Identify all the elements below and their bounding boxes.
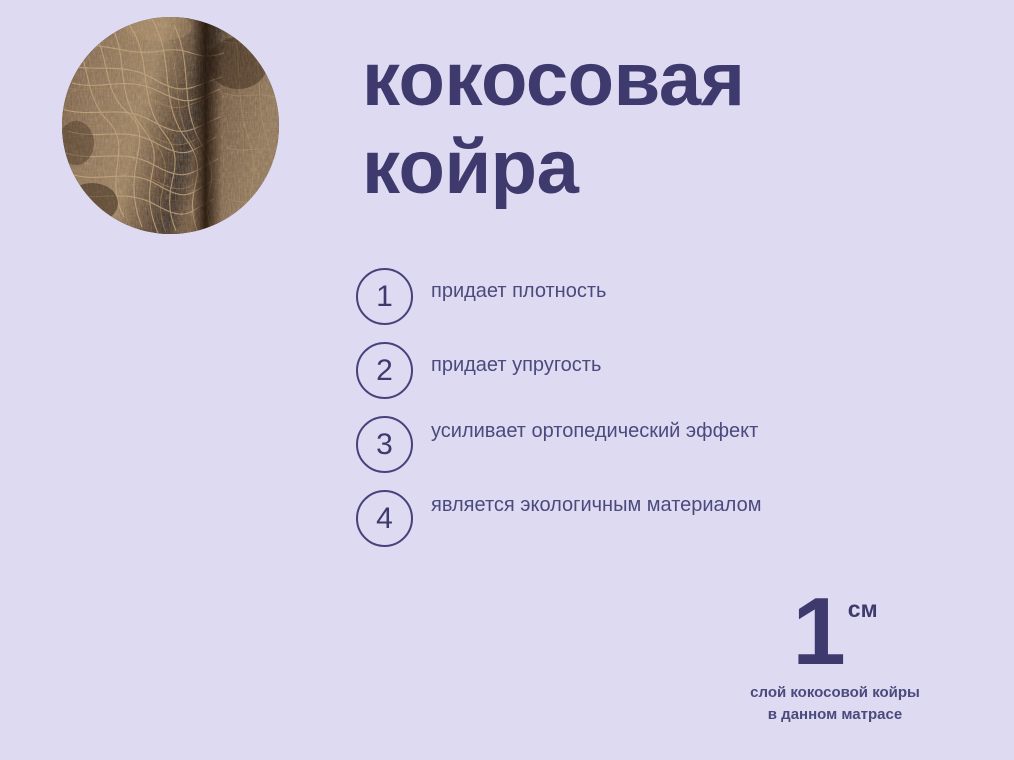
feature-number-badge: 2: [356, 342, 413, 399]
coconut-coir-photo: [62, 17, 279, 234]
measure-unit: см: [848, 598, 878, 621]
measure-caption: слой кокосовой койры в данном матрасе: [700, 682, 970, 726]
feature-number-badge: 1: [356, 268, 413, 325]
measure-caption-line-1: слой кокосовой койры: [700, 682, 970, 704]
list-item: 2 придает упругость: [356, 342, 826, 399]
measure-caption-line-2: в данном матрасе: [700, 704, 970, 726]
list-item: 3 усиливает ортопедический эффект: [356, 416, 826, 473]
feature-label: придает плотность: [431, 268, 826, 305]
coir-texture-graphic: [62, 17, 279, 234]
title-line-1: кокосовая: [362, 36, 922, 124]
slide-root: кокосовая койра 1 придает плотность 2 пр…: [0, 0, 1014, 760]
list-item: 4 является экологичным материалом: [356, 490, 826, 547]
feature-list: 1 придает плотность 2 придает упругость …: [356, 268, 826, 564]
feature-label: придает упругость: [431, 342, 826, 379]
page-title: кокосовая койра: [362, 36, 922, 212]
measure-value-row: 1 см: [700, 592, 970, 672]
feature-label: является экологичным материалом: [431, 490, 826, 519]
measure-value: 1: [792, 592, 844, 672]
feature-number-badge: 4: [356, 490, 413, 547]
thickness-callout: 1 см слой кокосовой койры в данном матра…: [700, 592, 970, 726]
feature-label: усиливает ортопедический эффект: [431, 416, 826, 445]
feature-number-badge: 3: [356, 416, 413, 473]
title-line-2: койра: [362, 124, 922, 212]
list-item: 1 придает плотность: [356, 268, 826, 325]
